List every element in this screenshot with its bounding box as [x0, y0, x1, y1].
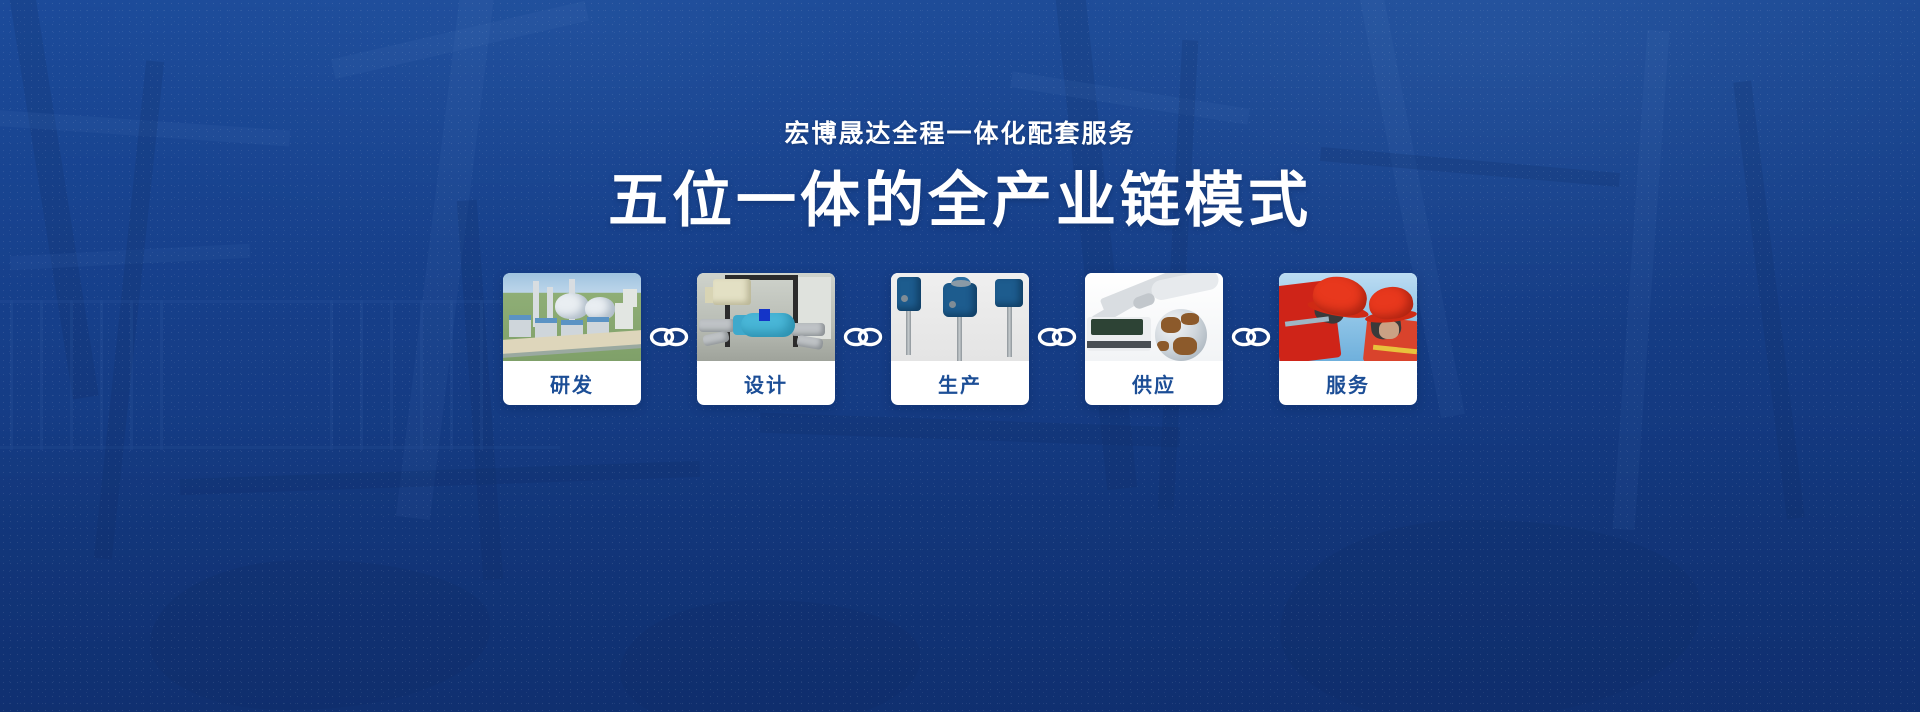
cad-pump-assembly-render: [697, 273, 835, 361]
hero-banner: 宏博晟达全程一体化配套服务 五位一体的全产业链模式 研发: [0, 0, 1920, 712]
chain-step-label: 设计: [697, 361, 835, 405]
industrial-plant-aerial-photo: [503, 273, 641, 361]
airplane-truck-globe-logistics: [1085, 273, 1223, 361]
banner-headline: 五位一体的全产业链模式: [608, 171, 1312, 231]
chain-step-label: 研发: [503, 361, 641, 405]
chain-link-icon: [1223, 293, 1279, 381]
chain-step-card-yanfa[interactable]: 研发: [503, 273, 641, 405]
chain-link-icon: [641, 293, 697, 381]
banner-content: 宏博晟达全程一体化配套服务 五位一体的全产业链模式 研发: [0, 0, 1920, 712]
chain-link-icon: [1029, 293, 1085, 381]
chain-step-label: 服务: [1279, 361, 1417, 405]
chain-step-card-shengchan[interactable]: 生产: [891, 273, 1029, 405]
chain-step-card-fuwu[interactable]: 服务: [1279, 273, 1417, 405]
field-workers-red-hardhats: [1279, 273, 1417, 361]
blue-level-sensor-instruments: [891, 273, 1029, 361]
chain-step-label: 供应: [1085, 361, 1223, 405]
banner-subtitle: 宏博晟达全程一体化配套服务: [784, 122, 1135, 147]
chain-link-icon: [835, 293, 891, 381]
chain-step-card-gongying[interactable]: 供应: [1085, 273, 1223, 405]
chain-step-label: 生产: [891, 361, 1029, 405]
chain-step-card-sheji[interactable]: 设计: [697, 273, 835, 405]
value-chain-row: 研发 设计: [503, 273, 1417, 405]
